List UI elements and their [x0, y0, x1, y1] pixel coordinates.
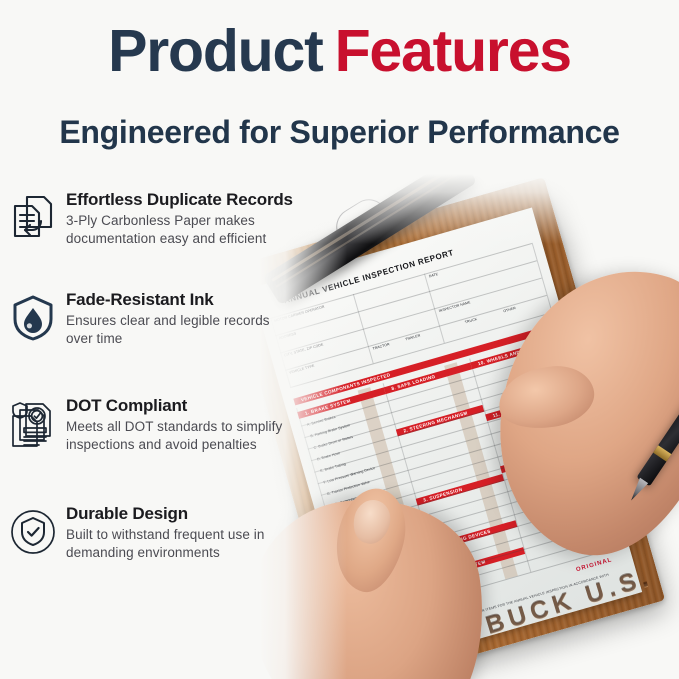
feature-list: Effortless Duplicate Records 3-Ply Carbo…: [0, 186, 350, 600]
feature-text: Effortless Duplicate Records 3-Ply Carbo…: [66, 186, 293, 248]
product-features-infographic: ProductFeatures Engineered for Superior …: [0, 0, 679, 679]
feature-desc-line: demanding environments: [66, 544, 265, 562]
feature-desc-line: 3-Ply Carbonless Paper makes: [66, 212, 293, 230]
title-word-product: Product: [108, 18, 323, 84]
feature-text: Durable Design Built to withstand freque…: [66, 500, 265, 562]
form-copy-marking: ORIGINAL: [575, 557, 613, 573]
page-title: ProductFeatures: [0, 22, 679, 81]
feature-title: Durable Design: [66, 504, 265, 524]
vehicle-type-option: OTHER: [503, 307, 516, 314]
feature-icon-container: [0, 186, 66, 256]
title-word-features: Features: [335, 18, 571, 84]
feature-text: DOT Compliant Meets all DOT standards to…: [66, 392, 282, 454]
header: ProductFeatures Engineered for Superior …: [0, 0, 679, 170]
feature-icon-container: [0, 500, 66, 570]
feature-desc-line: Ensures clear and legible records: [66, 312, 270, 330]
vehicle-type-option: TRAILER: [405, 334, 421, 342]
form-field-label: DATE: [429, 273, 439, 279]
feature-title: DOT Compliant: [66, 396, 282, 416]
feature-text: Fade-Resistant Ink Ensures clear and leg…: [66, 286, 270, 348]
feature-description: 3-Ply Carbonless Paper makes documentati…: [66, 212, 293, 248]
feature-desc-line: inspections and avoid penalties: [66, 436, 282, 454]
feature-title: Fade-Resistant Ink: [66, 290, 270, 310]
feature-desc-line: over time: [66, 330, 270, 348]
feature-description: Built to withstand frequent use in deman…: [66, 526, 265, 562]
right-thumb: [494, 360, 598, 434]
vehicle-type-option: TRUCK: [465, 318, 478, 325]
feature-description: Meets all DOT standards to simplify insp…: [66, 418, 282, 454]
feature-desc-line: Built to withstand frequent use in: [66, 526, 265, 544]
shield-ink-drop-icon: [11, 294, 55, 342]
feature-icon-container: [0, 286, 66, 356]
feature-item-effortless-duplicate-records: Effortless Duplicate Records 3-Ply Carbo…: [0, 186, 350, 272]
feature-item-dot-compliant: DOT Compliant Meets all DOT standards to…: [0, 392, 350, 486]
thumbnail: [349, 496, 395, 547]
feature-title: Effortless Duplicate Records: [66, 190, 293, 210]
feature-desc-line: documentation easy and efficient: [66, 230, 293, 248]
certified-document-icon: [9, 400, 57, 450]
shield-check-circle-icon: [9, 508, 57, 556]
feature-item-durable-design: Durable Design Built to withstand freque…: [0, 500, 350, 586]
feature-icon-container: [0, 392, 66, 462]
duplicate-documents-icon: [11, 194, 55, 240]
feature-desc-line: Meets all DOT standards to simplify: [66, 418, 282, 436]
feature-description: Ensures clear and legible records over t…: [66, 312, 270, 348]
feature-item-fade-resistant-ink: Fade-Resistant Ink Ensures clear and leg…: [0, 286, 350, 378]
page-subtitle: Engineered for Superior Performance: [0, 116, 679, 148]
